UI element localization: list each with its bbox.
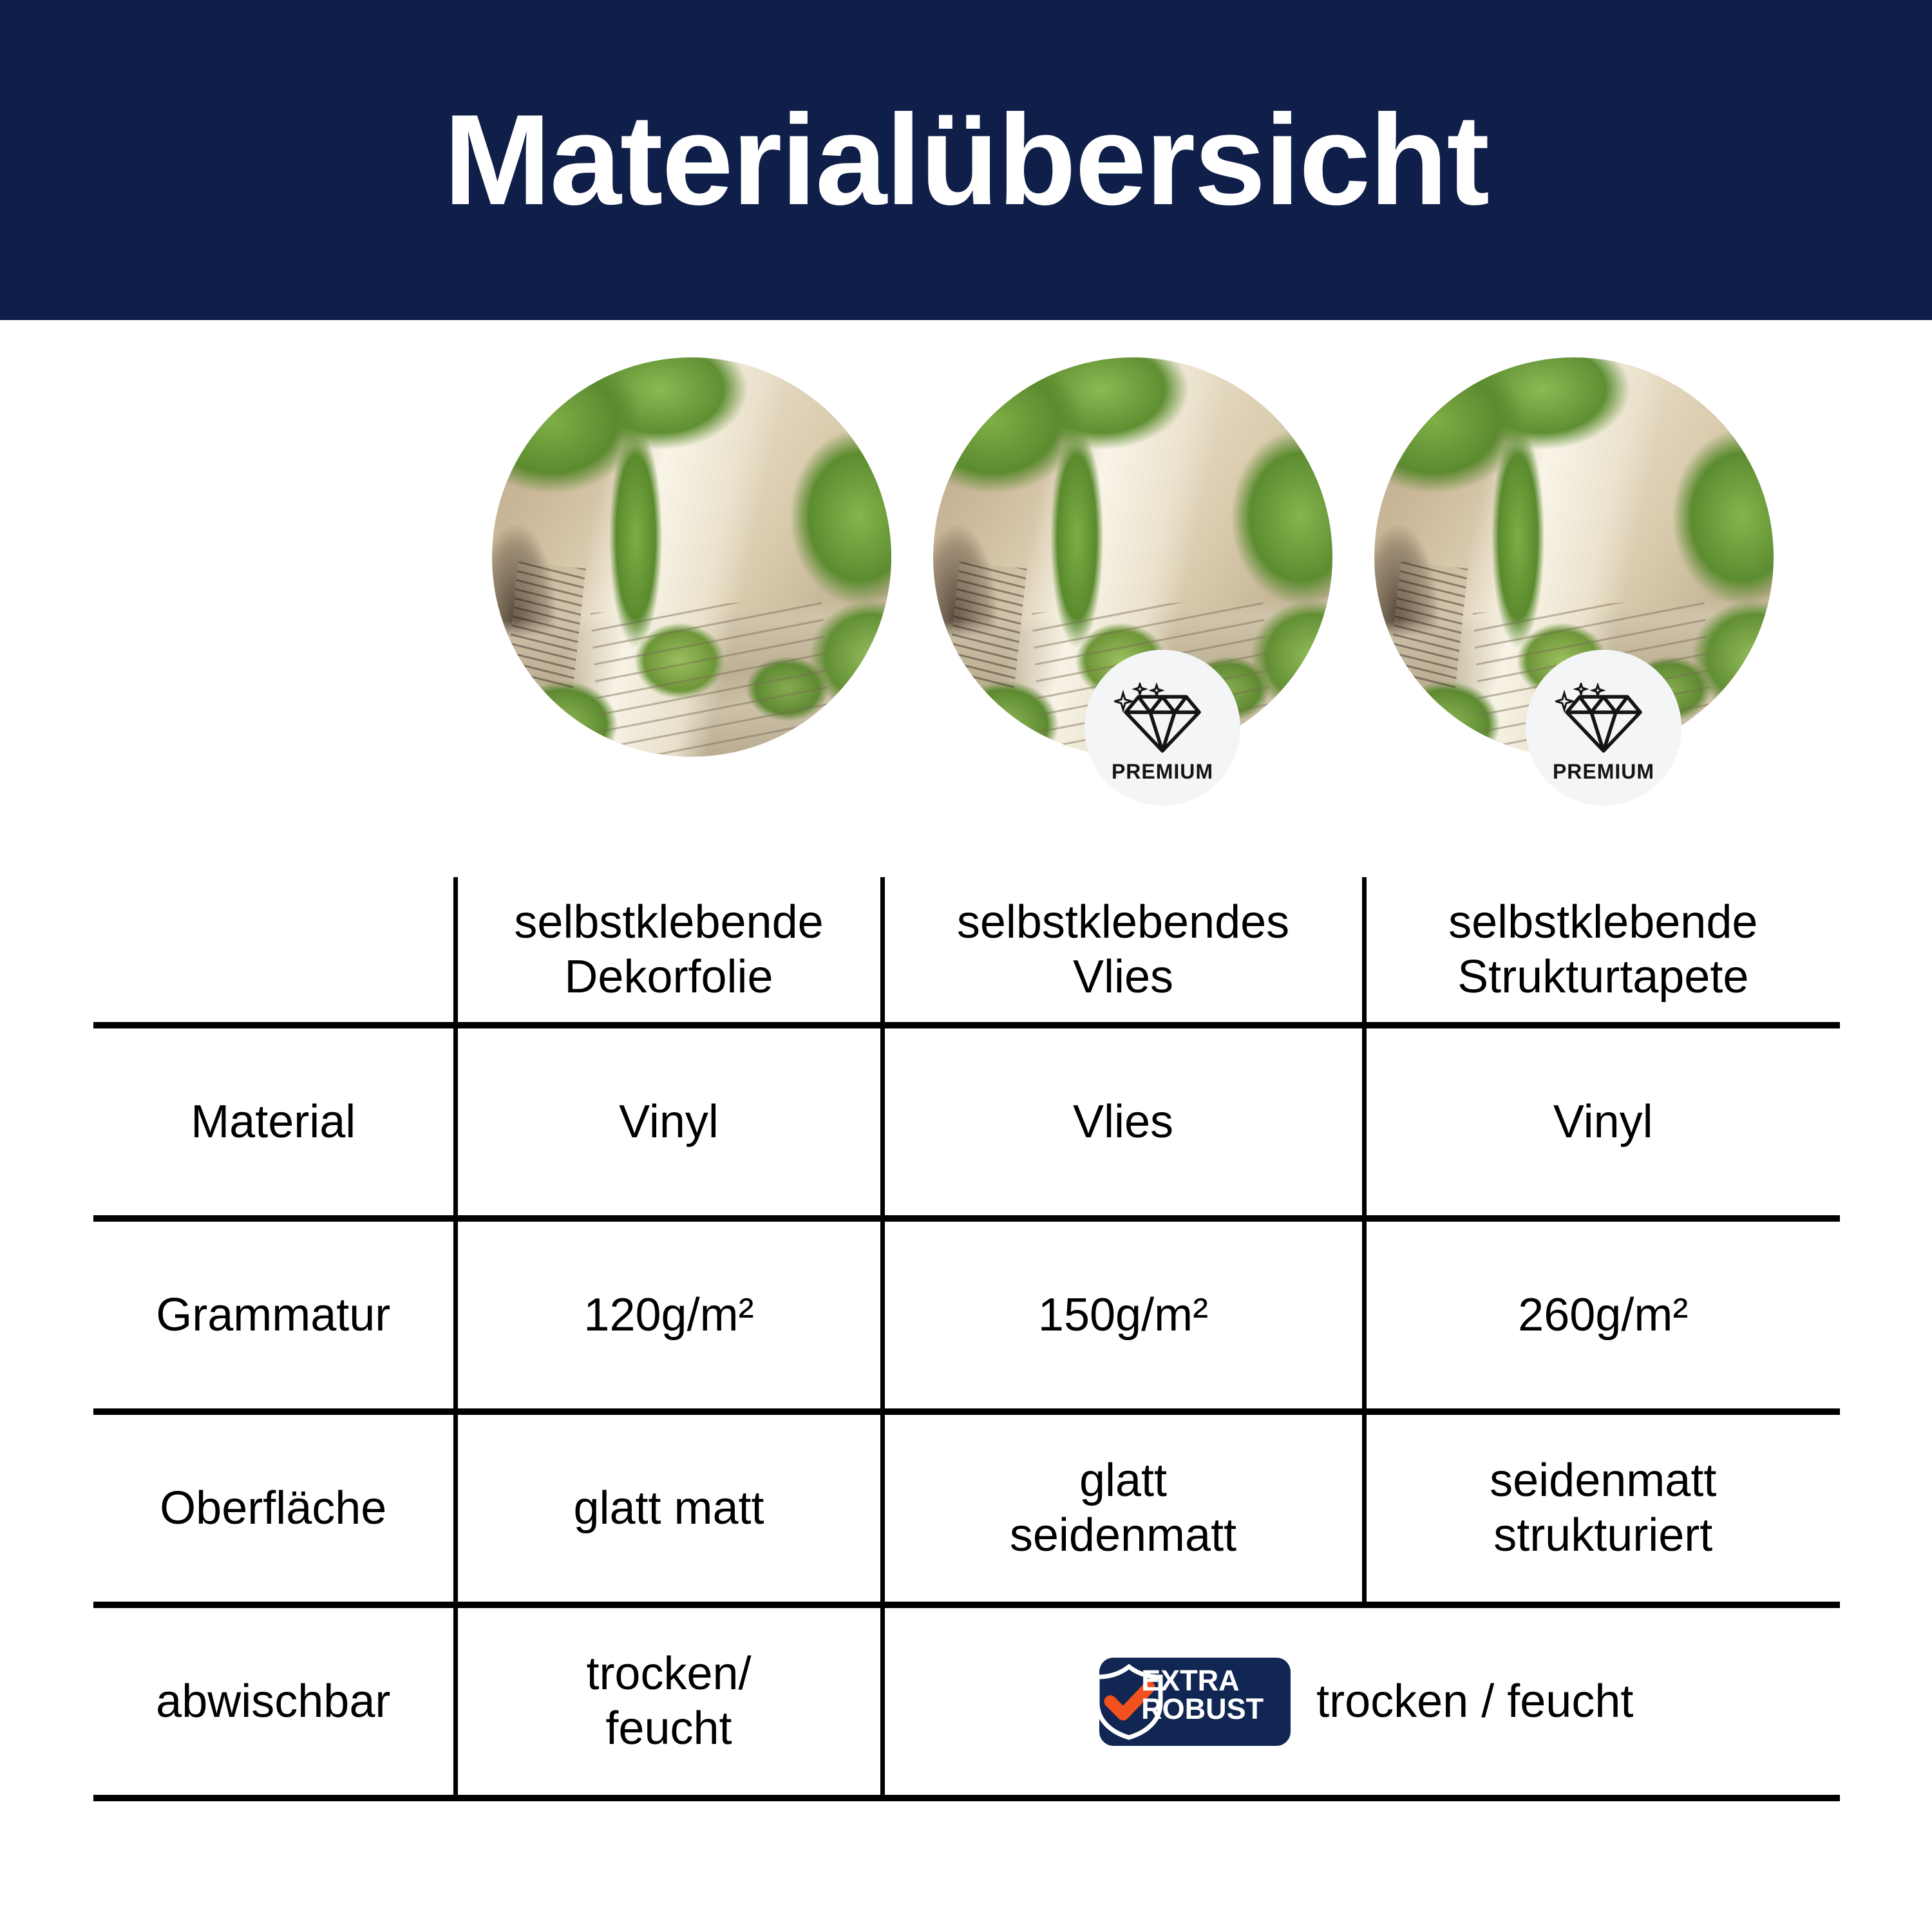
table-header-vlies: selbstklebendes Vlies bbox=[882, 877, 1364, 1025]
header-line-1: selbstklebende bbox=[1376, 895, 1832, 950]
table-row-abwischbar: abwischbar trocken/ feucht bbox=[93, 1605, 1840, 1798]
premium-badge: PREMIUM bbox=[1088, 654, 1236, 802]
header-line-2: Vlies bbox=[894, 950, 1353, 1005]
cell-material-dekorfolie: Vinyl bbox=[455, 1025, 882, 1218]
table-row-grammatur: Grammatur 120g/m² 150g/m² 260g/m² bbox=[93, 1218, 1840, 1412]
bottom-rule-seg bbox=[455, 1798, 882, 1801]
cell-grammatur-strukturtapete: 260g/m² bbox=[1364, 1218, 1840, 1412]
cell-abwischbar-merged: EXTRA ROBUST trocken / feucht bbox=[882, 1605, 1840, 1798]
row-label-material: Material bbox=[93, 1025, 455, 1218]
header-line-1: selbstklebendes bbox=[894, 895, 1353, 950]
row-label-abwischbar: abwischbar bbox=[93, 1605, 455, 1798]
header-banner: Materialübersicht bbox=[0, 0, 1932, 320]
diamond-icon bbox=[1114, 683, 1211, 755]
premium-badge-label: PREMIUM bbox=[1553, 760, 1654, 784]
cell-oberflaeche-vlies: glatt seidenmatt bbox=[882, 1412, 1364, 1605]
extra-robust-badge: EXTRA ROBUST bbox=[1091, 1655, 1291, 1748]
bottom-rule-seg bbox=[93, 1798, 455, 1801]
cell-line-1: seidenmatt bbox=[1376, 1454, 1832, 1508]
cell-material-vlies: Vlies bbox=[882, 1025, 1364, 1218]
photo-mediterranean-alley bbox=[492, 357, 891, 757]
robust-line-2: ROBUST bbox=[1141, 1695, 1284, 1723]
thumbnail-strip: PREMIUM PREMIUM bbox=[0, 320, 1932, 829]
page-title: Materialübersicht bbox=[444, 96, 1488, 225]
cell-line-1: trocken/ bbox=[467, 1647, 871, 1701]
robust-line-1: EXTRA bbox=[1141, 1667, 1284, 1695]
table-row-oberflaeche: Oberfläche glatt matt glatt seidenmatt s… bbox=[93, 1412, 1840, 1605]
cell-line-2: feucht bbox=[467, 1701, 871, 1756]
bottom-rule-seg bbox=[882, 1798, 1364, 1801]
table-bottom-rule bbox=[93, 1798, 1840, 1801]
cell-line-2: strukturiert bbox=[1376, 1508, 1832, 1563]
table-header-blank bbox=[93, 877, 455, 1025]
material-comparison-table: selbstklebende Dekorfolie selbstklebende… bbox=[93, 877, 1840, 1801]
cell-abwischbar-dekorfolie: trocken/ feucht bbox=[455, 1605, 882, 1798]
cell-oberflaeche-strukturtapete: seidenmatt strukturiert bbox=[1364, 1412, 1840, 1605]
cell-grammatur-vlies: 150g/m² bbox=[882, 1218, 1364, 1412]
cell-abwischbar-merged-text: trocken / feucht bbox=[1316, 1674, 1633, 1729]
extra-robust-label: EXTRA ROBUST bbox=[1141, 1667, 1284, 1723]
header-line-2: Dekorfolie bbox=[467, 950, 871, 1005]
cell-line-1: glatt bbox=[894, 1454, 1353, 1508]
cell-line-2: seidenmatt bbox=[894, 1508, 1353, 1563]
diamond-icon bbox=[1555, 683, 1652, 755]
premium-badge-label: PREMIUM bbox=[1112, 760, 1213, 784]
table-header-strukturtapete: selbstklebende Strukturtapete bbox=[1364, 877, 1840, 1025]
header-line-1: selbstklebende bbox=[467, 895, 871, 950]
table-row-material: Material Vinyl Vlies Vinyl bbox=[93, 1025, 1840, 1218]
row-label-grammatur: Grammatur bbox=[93, 1218, 455, 1412]
table-header-row: selbstklebende Dekorfolie selbstklebende… bbox=[93, 877, 1840, 1025]
bottom-rule-seg bbox=[1364, 1798, 1840, 1801]
table-header-dekorfolie: selbstklebende Dekorfolie bbox=[455, 877, 882, 1025]
cell-material-strukturtapete: Vinyl bbox=[1364, 1025, 1840, 1218]
header-line-2: Strukturtapete bbox=[1376, 950, 1832, 1005]
cell-grammatur-dekorfolie: 120g/m² bbox=[455, 1218, 882, 1412]
premium-badge: PREMIUM bbox=[1529, 654, 1678, 802]
cell-oberflaeche-dekorfolie: glatt matt bbox=[455, 1412, 882, 1605]
row-label-oberflaeche: Oberfläche bbox=[93, 1412, 455, 1605]
thumbnail-dekorfolie[interactable] bbox=[492, 357, 891, 757]
